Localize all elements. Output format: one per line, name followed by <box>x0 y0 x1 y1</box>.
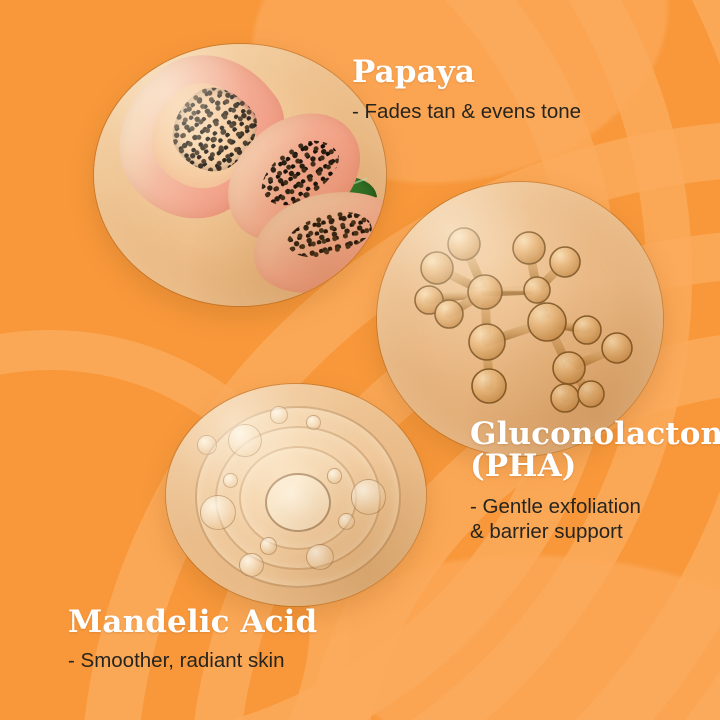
ingredient-infographic: Papaya - Fades tan & evens tone Gluconol… <box>0 0 720 720</box>
gel-bubble <box>270 406 288 424</box>
gel-bubble <box>239 553 264 577</box>
gel-bubble <box>351 479 387 514</box>
gel-bubble <box>197 435 217 455</box>
papaya-illustration <box>94 44 386 306</box>
gel-bubble <box>260 537 278 555</box>
mandelic-acid-benefit-text: - Smoother, radiant skin <box>68 648 285 673</box>
gluconolactone-benefit-text: - Gentle exfoliation & barrier support <box>470 494 641 544</box>
gel-bubble <box>327 468 342 483</box>
gel-bubble <box>228 424 261 457</box>
gel-swirl-illustration <box>166 384 426 606</box>
papaya-title: Papaya <box>352 56 475 88</box>
papaya-benefit-text: - Fades tan & evens tone <box>352 99 581 124</box>
gel-bubble <box>200 495 236 530</box>
papaya-seeds-lower <box>283 205 375 265</box>
papaya-droplet <box>94 44 386 306</box>
gel-swirl-core <box>265 473 331 533</box>
gluconolactone-title: Gluconolactone (PHA) <box>470 418 720 482</box>
mandelic-acid-title: Mandelic Acid <box>68 606 317 638</box>
mandelic-acid-droplet <box>166 384 426 606</box>
